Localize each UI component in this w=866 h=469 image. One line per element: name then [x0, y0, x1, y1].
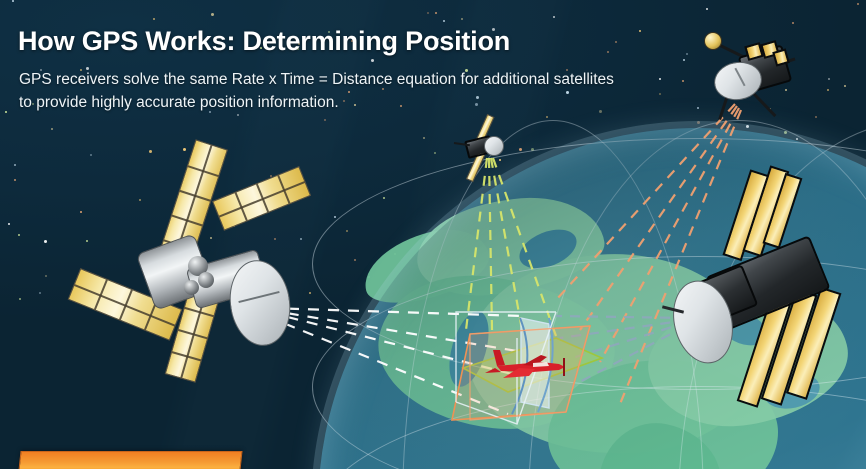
satellite-left — [78, 138, 308, 378]
page-subtitle: GPS receivers solve the same Rate x Time… — [19, 68, 619, 114]
solar-panel — [212, 166, 311, 231]
orange-accent-bar — [18, 451, 243, 469]
airplane-tailplane — [485, 368, 501, 373]
satellite-sensor — [704, 32, 722, 50]
red-airplane-receiver — [483, 338, 603, 398]
gps-infographic-slide: How GPS Works: Determining Position GPS … — [0, 0, 866, 469]
page-title: How GPS Works: Determining Position — [18, 26, 510, 57]
satellite-nozzle — [198, 272, 214, 288]
satellite-center — [452, 126, 522, 172]
airplane-propeller — [563, 358, 565, 376]
airplane-tail — [493, 350, 505, 366]
satellite-top-right — [686, 14, 806, 118]
satellite-dish — [484, 136, 504, 156]
satellite-nozzle — [184, 280, 199, 295]
satellite-right — [668, 176, 866, 406]
